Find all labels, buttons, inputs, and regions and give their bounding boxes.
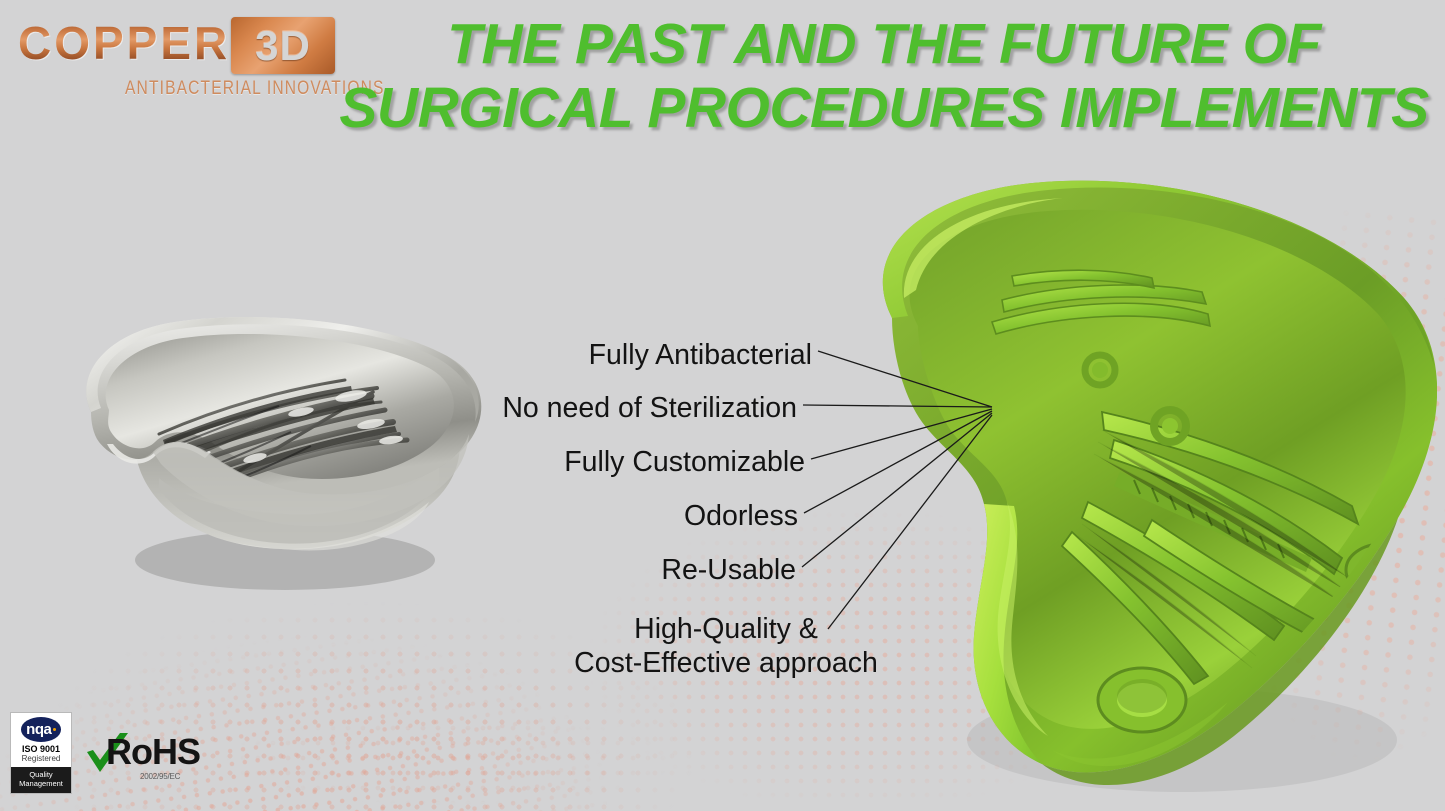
slide-canvas: COPPER 3D ANTIBACTERIAL INNOVATIONS THE … <box>0 0 1445 811</box>
rohs-label: RoHS <box>106 734 200 770</box>
feature-label-no-need-of-sterilization: No need of Sterilization <box>502 392 797 426</box>
feature-label-high-quality-cost-effective: High-Quality & Cost-Effective approach <box>566 613 886 680</box>
nqa-brand-text: nqa <box>26 722 51 737</box>
feature-label-odorless: Odorless <box>684 500 798 534</box>
nqa-status-label: Registered <box>22 755 61 764</box>
feature-label-fully-antibacterial: Fully Antibacterial <box>589 339 812 373</box>
feature-label-fully-customizable: Fully Customizable <box>564 446 805 480</box>
brand-logo: COPPER 3D ANTIBACTERIAL INNOVATIONS <box>13 8 333 103</box>
slide-title: THE PAST AND THE FUTURE OF SURGICAL PROC… <box>330 12 1438 141</box>
logo-3d-badge-label: 3D <box>231 17 335 74</box>
nqa-scheme-block: Quality Management <box>11 767 71 794</box>
rohs-directive-label: 2002/95/EC <box>140 772 180 781</box>
green-3d-printed-tray-photo <box>852 180 1437 800</box>
nqa-accent-dot <box>53 728 56 731</box>
feature-label-re-usable: Re-Usable <box>661 554 796 588</box>
nqa-logo-circle: nqa <box>21 717 61 742</box>
logo-3d-badge: 3D <box>231 17 335 74</box>
logo-wordmark: COPPER <box>18 20 230 66</box>
certification-badge-nqa-iso9001: nqa ISO 9001 Registered Quality Manageme… <box>10 712 72 794</box>
certification-badge-rohs: RoHS 2002/95/EC <box>84 730 184 792</box>
nqa-standard-label: ISO 9001 <box>22 745 60 754</box>
nqa-scheme-line1: Quality <box>11 770 71 780</box>
nqa-scheme-line2: Management <box>11 779 71 789</box>
steel-tray-photo <box>55 292 495 637</box>
dot-pattern-swirl <box>150 680 770 811</box>
